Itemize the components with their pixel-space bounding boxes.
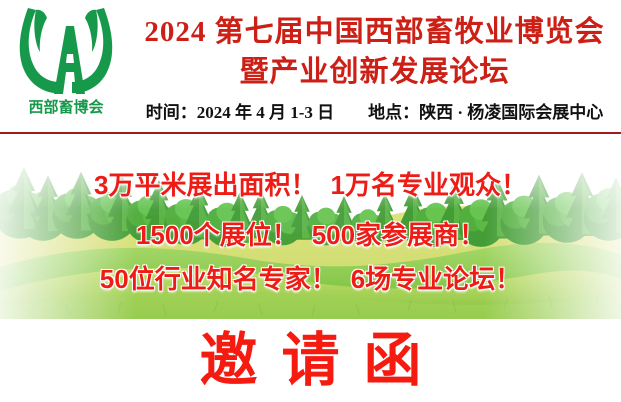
event-title-line-1: 2024 第七届中国西部畜牧业博览会	[128, 8, 621, 50]
western-livestock-expo-logo-icon	[14, 6, 118, 94]
logo-caption: 西部畜博会	[6, 96, 126, 117]
title-area: 2024 第七届中国西部畜牧业博览会 暨产业创新发展论坛 时间：2024 年 4…	[128, 0, 621, 133]
invitation-poster: 西部畜博会 2024 第七届中国西部畜牧业博览会 暨产业创新发展论坛 时间：20…	[0, 0, 621, 402]
event-time-label: 时间：	[146, 103, 197, 122]
poster-header: 西部畜博会 2024 第七届中国西部畜牧业博览会 暨产业创新发展论坛 时间：20…	[0, 0, 621, 133]
event-place-label: 地点：	[368, 103, 419, 122]
header-divider	[0, 132, 621, 134]
event-meta-line: 时间：2024 年 4 月 1-3 日地点：陕西 · 杨凌国际会展中心	[128, 98, 621, 123]
event-place-value: 陕西 · 杨凌国际会展中心	[419, 103, 603, 122]
event-title-line-2: 暨产业创新发展论坛	[128, 48, 621, 90]
event-time-value: 2024 年 4 月 1-3 日	[197, 103, 334, 122]
invitation-title: 邀请函	[0, 327, 621, 395]
landscape-illustration	[0, 139, 621, 319]
logo-block: 西部畜博会	[6, 4, 126, 130]
